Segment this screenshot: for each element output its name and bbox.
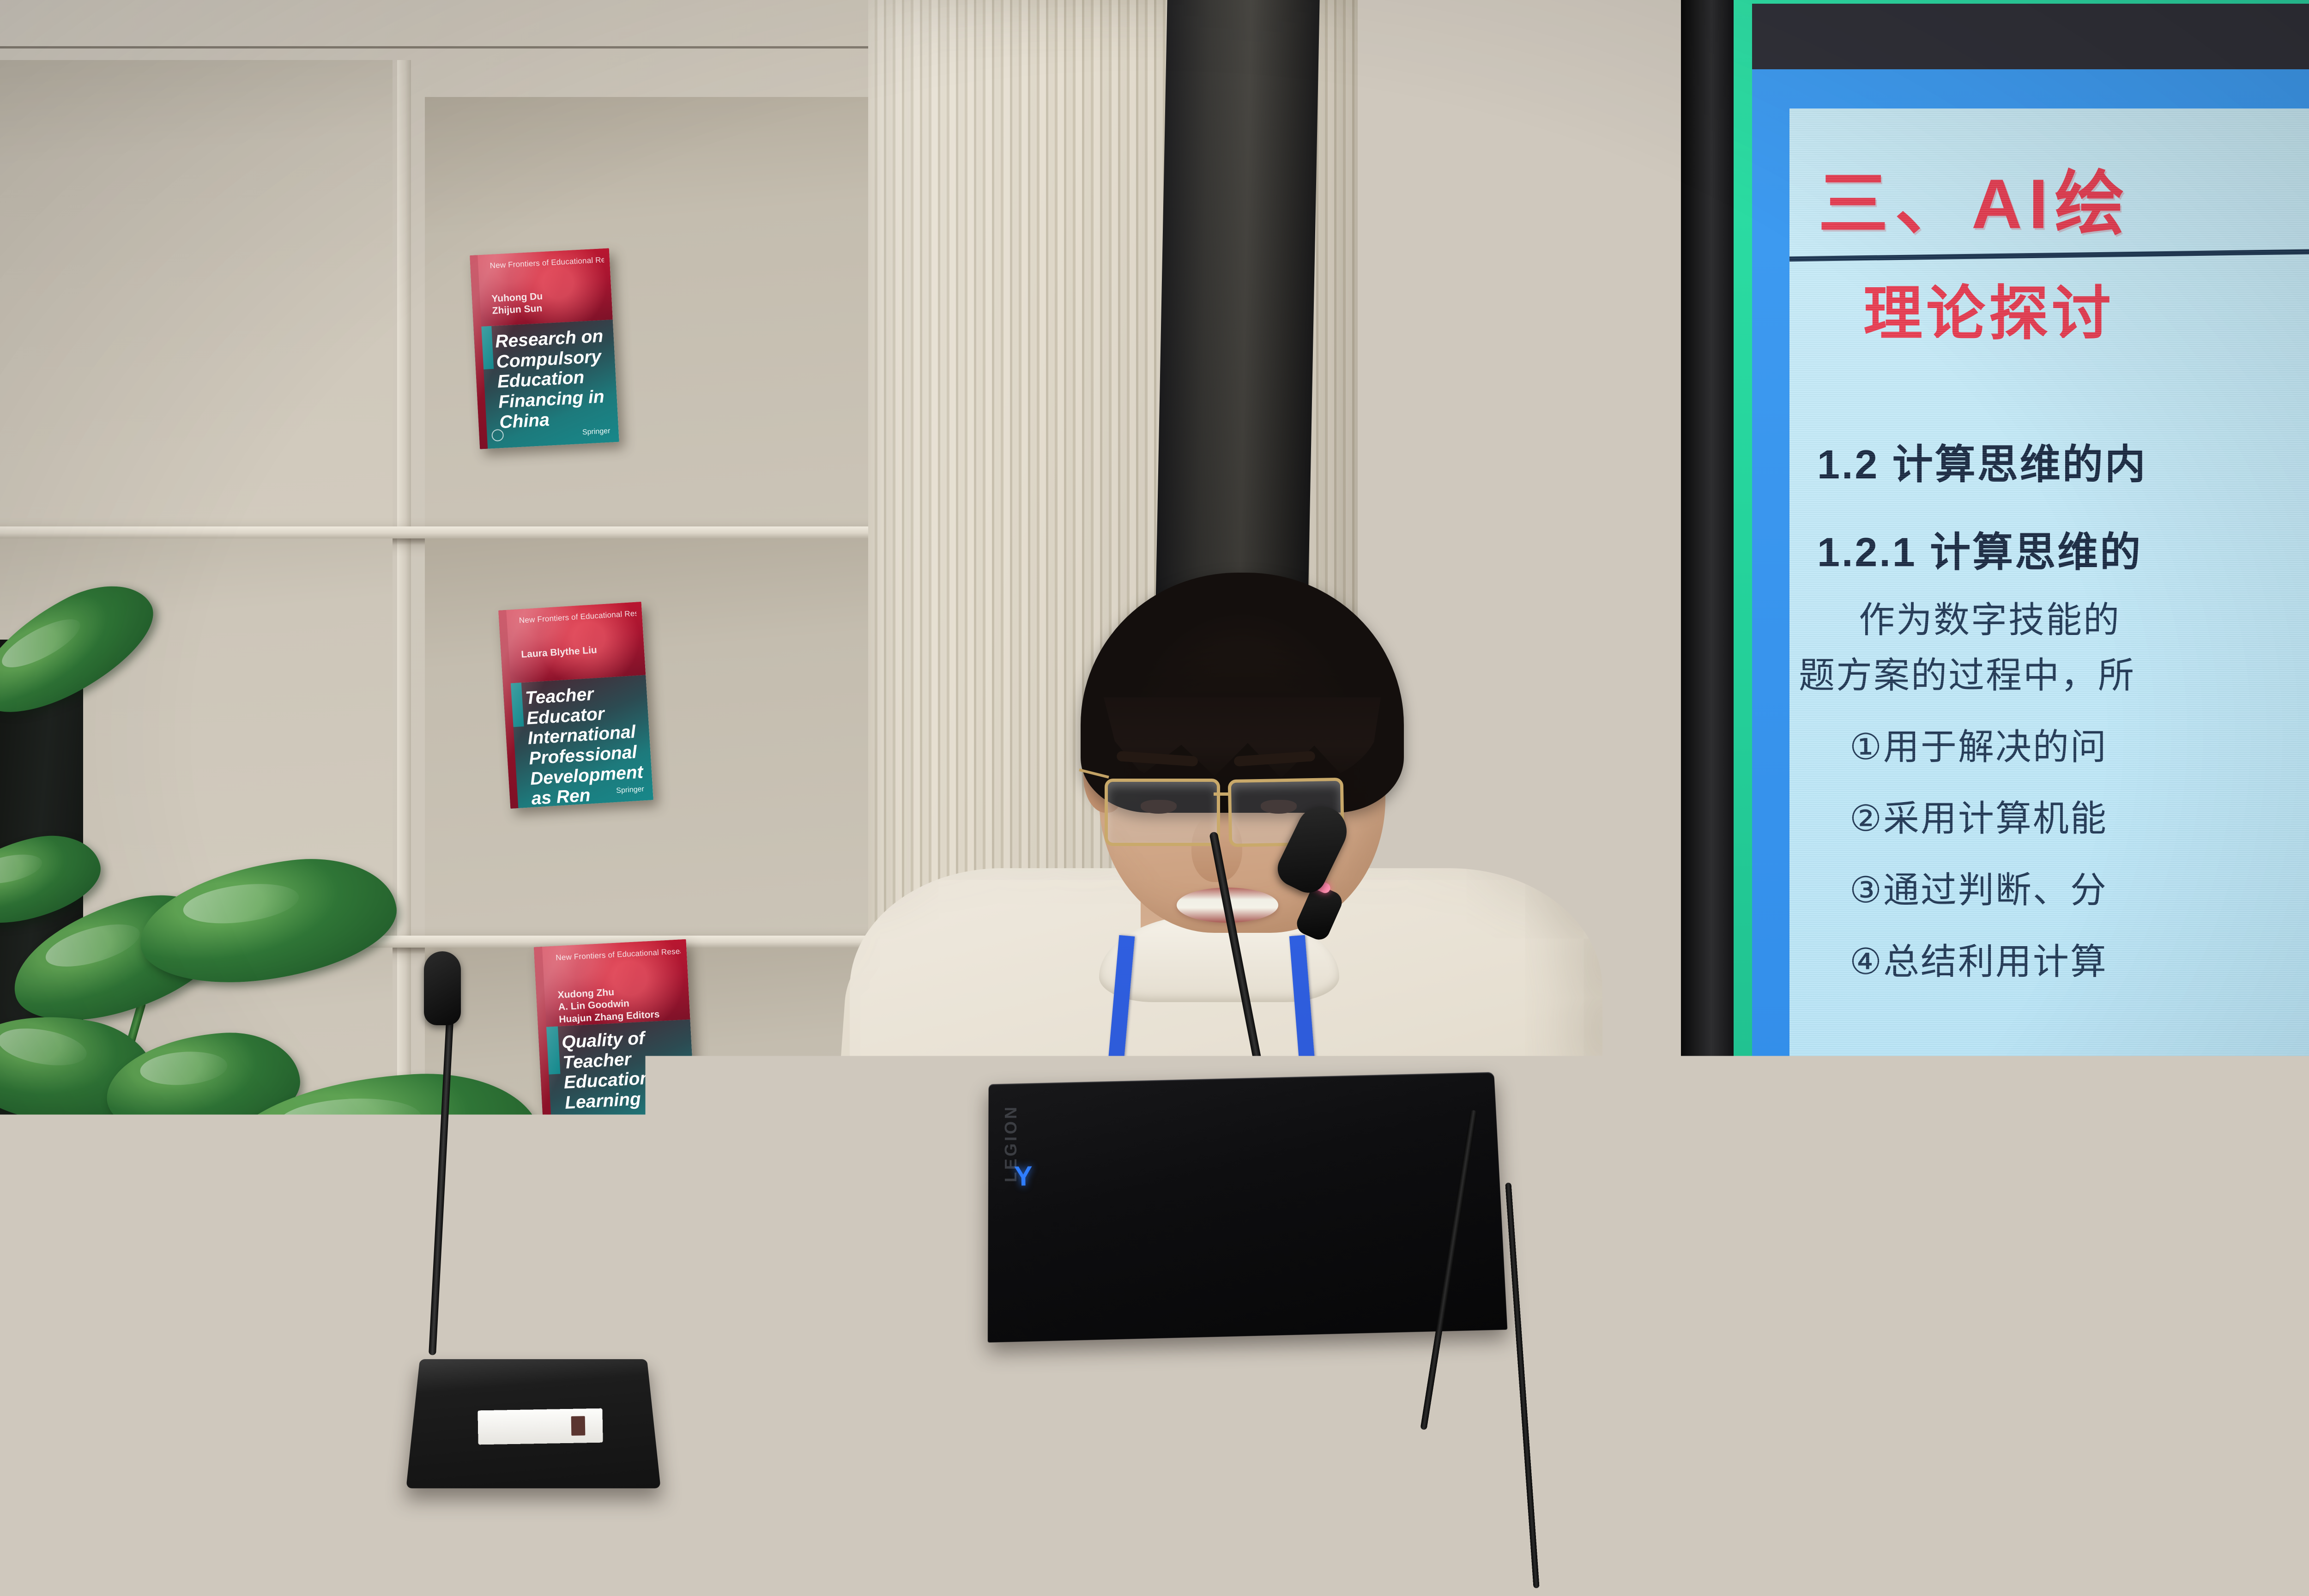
display-green-edge — [1734, 0, 1752, 1353]
book-cover: New Frontiers of Educational Research Yu… — [470, 248, 619, 449]
book-title: Research on Compulsory Education Financi… — [495, 326, 617, 432]
slide-list-item: ④总结利用计算 — [1850, 933, 2309, 985]
badge-marker-icon — [571, 1416, 586, 1436]
slide-canvas: 三、AI绘 理论探讨 1.2 计算思维的内 1.2.1 计算思维的 作为数字技能… — [1789, 109, 2309, 1397]
menu-line — [1882, 1318, 1913, 1324]
book-authors: Xudong Zhu A. Lin Goodwin Huajun Zhang E… — [557, 983, 681, 1026]
book-publisher: Springer — [659, 1141, 688, 1150]
hamburger-menu-icon[interactable] — [1875, 1309, 1926, 1355]
book-publisher: Springer — [582, 427, 610, 437]
hair — [1081, 573, 1404, 813]
menu-line — [1882, 1342, 1913, 1347]
book-publisher: Springer — [616, 785, 644, 795]
presentation-photo-scene: New Frontiers of Educational Research Yu… — [0, 0, 2309, 1596]
book-title: Quality of Teacher Education and Learnin… — [561, 1026, 693, 1113]
slide-heading-2: 1.2.1 计算思维的 — [1817, 520, 2309, 578]
eyeglasses-lens-left — [1105, 779, 1220, 846]
slide-list-item: ③通过判断、分 — [1850, 861, 2309, 913]
slide-paragraph-line-1: 作为数字技能的 — [1859, 591, 2309, 643]
desk-microphone-windscreen — [424, 951, 461, 1025]
slide-title-rule — [1789, 247, 2309, 262]
book-cover: New Frontiers of Educational Research Xu… — [534, 939, 697, 1164]
slide-heading-1: 1.2 计算思维的内 — [1817, 432, 2309, 490]
presentation-display: 三、AI绘 理论探讨 1.2 计算思维的内 1.2.1 计算思维的 作为数字技能… — [1681, 0, 2309, 1566]
book-cover: New Frontiers of Educational Research La… — [498, 602, 653, 809]
cable-grommet — [462, 1496, 586, 1542]
slide-list-item: ②采用计算机能 — [1850, 790, 2309, 841]
slide-list-item: ①用于解决的问 — [1850, 718, 2309, 770]
shelf-board — [0, 526, 896, 538]
menu-line — [1882, 1330, 1913, 1335]
shelf-ceiling-line — [0, 46, 933, 48]
legion-logo-icon: Y — [1014, 1164, 1040, 1192]
floor — [623, 1561, 1732, 1596]
eyeglasses-bridge — [1214, 792, 1230, 796]
slide-paragraph-line-2: 题方案的过程中，所 — [1799, 647, 2309, 698]
shelf-cavity — [0, 60, 393, 526]
slide-title: 三、AI绘 — [1818, 168, 2309, 241]
desk-microphone-badge — [478, 1409, 603, 1445]
slide-subtitle: 理论探讨 — [1863, 283, 2309, 345]
laptop-lid[interactable] — [988, 1072, 1507, 1342]
